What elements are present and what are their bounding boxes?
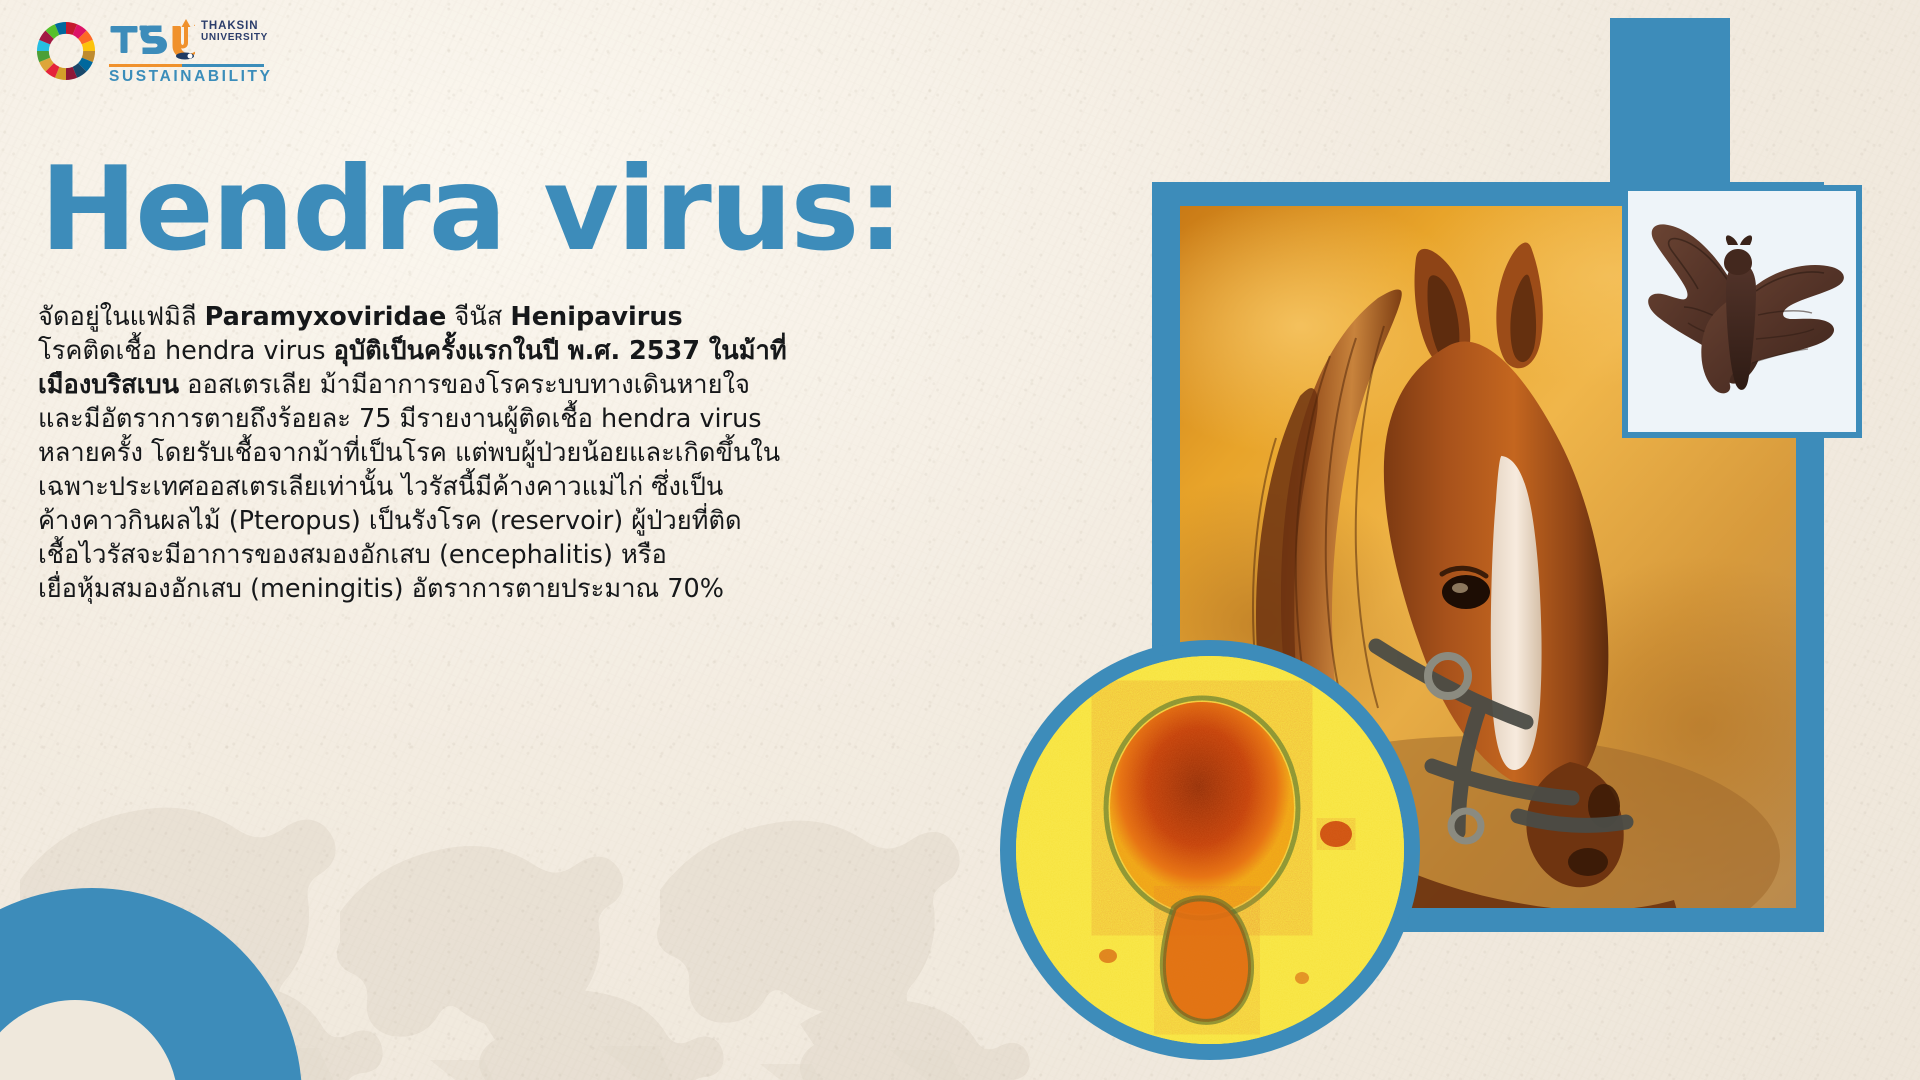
body-emphasis: Henipavirus — [510, 302, 682, 332]
tsu-monogram-icon — [109, 18, 195, 60]
logo-divider-rule — [109, 64, 264, 67]
body-line: ค้างคาวกินผลไม้ (Pteropus) เป็นรังโรค (r… — [38, 504, 918, 538]
body-emphasis: เมืองบริสเบน — [38, 370, 179, 400]
virus-micrograph — [1016, 656, 1404, 1044]
body-text: ค้างคาวกินผลไม้ (Pteropus) เป็นรังโรค (r… — [38, 506, 742, 536]
body-text: โรคติดเชื้อ hendra virus — [38, 336, 334, 366]
bat-photo — [1628, 191, 1856, 432]
body-text: เชื้อไวรัสจะมีอาการของสมองอักเสบ (enceph… — [38, 540, 667, 570]
body-text: เยื่อหุ้มสมองอักเสบ (meningitis) อัตรากา… — [38, 574, 724, 604]
body-line: โรคติดเชื้อ hendra virus อุบัติเป็นครั้ง… — [38, 334, 918, 368]
body-text: เฉพาะประเทศออสเตรเลียเท่านั้น ไวรัสนี้มี… — [38, 472, 723, 502]
body-line: จัดอยู่ในแฟมิลี Paramyxoviridae จีนัส He… — [38, 300, 918, 334]
body-text: จีนัส — [446, 302, 510, 332]
body-text: จัดอยู่ในแฟมิลี — [38, 302, 205, 332]
body-emphasis: Paramyxoviridae — [205, 302, 447, 332]
slide-canvas: THAKSIN UNIVERSITY SUSTAINABILITY Hendra… — [0, 0, 1920, 1080]
university-name-line1: THAKSIN — [201, 21, 268, 33]
university-name-line2: UNIVERSITY — [201, 33, 268, 43]
body-text: ออสเตรเลีย ม้ามีอาการของโรคระบบทางเดินหา… — [179, 370, 750, 400]
body-line: เยื่อหุ้มสมองอักเสบ (meningitis) อัตรากา… — [38, 572, 918, 606]
body-text: และมีอัตราการตายถึงร้อยละ 75 มีรายงานผู้… — [38, 404, 762, 434]
tsu-sustainability-logo: THAKSIN UNIVERSITY SUSTAINABILITY — [33, 18, 268, 85]
body-line: และมีอัตราการตายถึงร้อยละ 75 มีรายงานผู้… — [38, 402, 918, 436]
sdg-colour-wheel-icon — [33, 18, 99, 84]
sustainability-label: SUSTAINABILITY — [109, 69, 264, 85]
body-line: หลายครั้ง โดยรับเชื้อจากม้าที่เป็นโรค แต… — [38, 436, 918, 470]
body-text: หลายครั้ง โดยรับเชื้อจากม้าที่เป็นโรค แต… — [38, 438, 780, 468]
body-line: เฉพาะประเทศออสเตรเลียเท่านั้น ไวรัสนี้มี… — [38, 470, 918, 504]
body-line: เชื้อไวรัสจะมีอาการของสมองอักเสบ (enceph… — [38, 538, 918, 572]
body-emphasis: อุบัติเป็นครั้งแรกในปี พ.ศ. 2537 ในม้าที… — [334, 336, 787, 366]
body-paragraph: จัดอยู่ในแฟมิลี Paramyxoviridae จีนัส He… — [38, 300, 918, 606]
page-title: Hendra virus: — [40, 152, 902, 268]
body-line: เมืองบริสเบน ออสเตรเลีย ม้ามีอาการของโรค… — [38, 368, 918, 402]
